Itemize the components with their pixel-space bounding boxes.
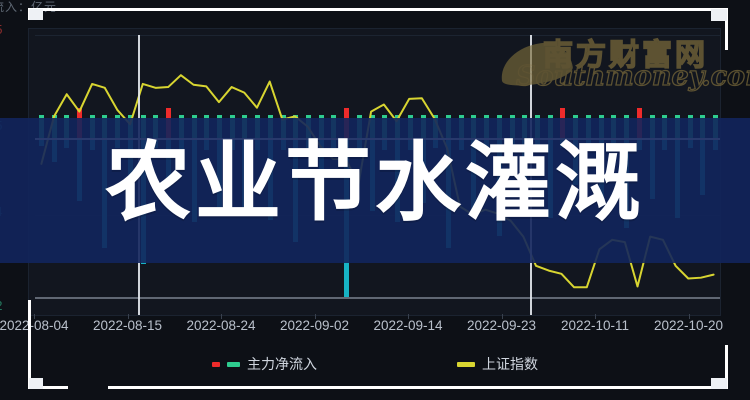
x-axis-label: 2022-08-04 [0, 318, 69, 333]
chart-page: 流入：亿元 95 0 25 44 62 农业节水灌溉 南方财富网 Southmo… [0, 0, 750, 400]
x-axis-label: 2022-09-14 [373, 318, 442, 333]
legend-item-main-net-inflow[interactable]: 主力净流入 [212, 354, 317, 374]
x-axis-label: 2022-10-11 [561, 318, 629, 333]
x-axis-tick [315, 314, 316, 319]
legend-label-shanghai-index: 上证指数 [482, 354, 538, 374]
legend-label-main-net-inflow: 主力净流入 [247, 354, 317, 374]
y-axis-label-4: 62 [0, 298, 2, 313]
x-axis-tick [689, 314, 690, 319]
frame-notch-bottom-right [711, 378, 727, 389]
x-axis-label: 2022-08-24 [186, 318, 255, 333]
x-axis-tick [502, 314, 503, 319]
frame-bottom-edge [108, 386, 728, 389]
frame-notch-top-right [711, 9, 727, 21]
x-axis-tick [128, 314, 129, 319]
x-axis-tick [595, 314, 596, 319]
legend-item-shanghai-index[interactable]: 上证指数 [457, 354, 538, 374]
x-axis-tick [408, 314, 409, 319]
x-axis-label: 2022-08-15 [93, 318, 162, 333]
frame-top-edge [28, 8, 728, 11]
chart-legend: 主力净流入 上证指数 [0, 352, 750, 376]
legend-swatch-red-icon [212, 362, 220, 367]
legend-swatch-green-icon [227, 362, 240, 367]
frame-notch-top-left [29, 9, 43, 20]
x-axis-label: 2022-09-02 [280, 318, 349, 333]
x-axis: 2022-08-042022-08-152022-08-242022-09-02… [0, 318, 750, 344]
x-axis-label: 2022-10-20 [654, 318, 723, 333]
legend-swatch-yellow-icon [457, 362, 475, 367]
x-axis-label: 2022-09-23 [467, 318, 536, 333]
y-axis-label-0: 95 [0, 22, 2, 37]
x-axis-tick [221, 314, 222, 319]
frame-notch-bottom-left [29, 378, 43, 389]
page-title: 农业节水灌溉 [0, 140, 750, 228]
x-axis-tick [34, 314, 35, 319]
frame-left-bottom [28, 300, 31, 389]
